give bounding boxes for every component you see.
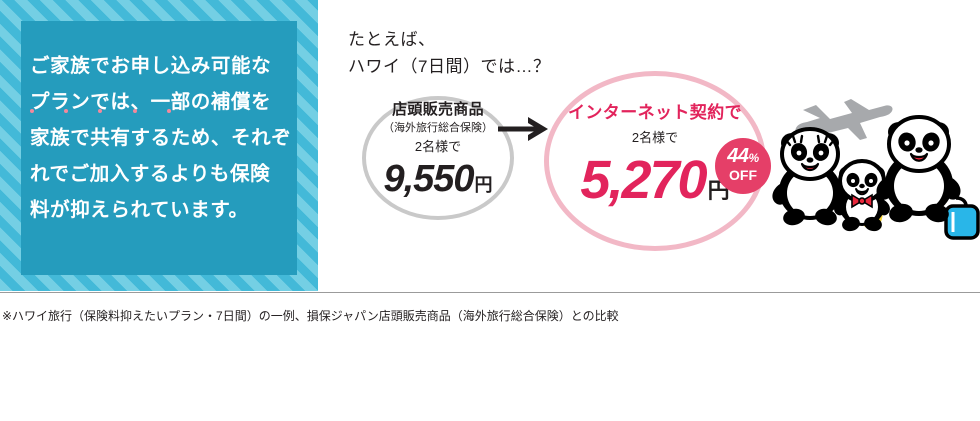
internet-plan-title: インターネット契約で bbox=[544, 101, 766, 125]
lead-question: たとえば、 ハワイ（7日間）では…？ bbox=[348, 26, 550, 80]
callout-line-3-tail: ため、それぞ bbox=[171, 127, 292, 149]
discount-badge: 44% OFF bbox=[715, 138, 771, 194]
emphasized-phrase-text: 家族で共有する bbox=[30, 127, 171, 149]
lead-line-1: たとえば、 bbox=[348, 26, 550, 53]
father-panda bbox=[876, 117, 978, 238]
arrow-right-icon bbox=[498, 116, 548, 142]
store-plan-currency: 円 bbox=[475, 175, 493, 195]
internet-plan-price-number: 5,270 bbox=[580, 150, 705, 210]
callout-line-3: 家族で共有するため、それぞ bbox=[30, 120, 292, 156]
panda-family-travel-illustration bbox=[768, 88, 980, 250]
discount-off-label: OFF bbox=[715, 168, 771, 183]
lead-line-2: ハワイ（7日間）では…？ bbox=[348, 53, 550, 80]
store-plan-price-number: 9,550 bbox=[383, 158, 473, 200]
store-plan-subtitle: （海外旅行総合保険） bbox=[362, 120, 514, 137]
store-plan-title: 店頭販売商品 bbox=[362, 100, 514, 120]
store-plan-people: 2名様で bbox=[362, 137, 514, 157]
callout-text-block: ご家族でお申し込み可能な プランでは、一部の補償を 家族で共有するため、それぞ … bbox=[30, 48, 292, 228]
discount-percent-symbol: % bbox=[749, 151, 759, 165]
promo-banner: ご家族でお申し込み可能な プランでは、一部の補償を 家族で共有するため、それぞ … bbox=[0, 0, 980, 421]
emphasized-phrase: 家族で共有する bbox=[30, 120, 171, 156]
horizontal-divider bbox=[0, 292, 980, 293]
store-plan-content: 店頭販売商品 （海外旅行総合保険） 2名様で 9,550円 bbox=[362, 100, 514, 201]
striped-callout-panel: ご家族でお申し込み可能な プランでは、一部の補償を 家族で共有するため、それぞ … bbox=[0, 0, 318, 291]
callout-line-1: ご家族でお申し込み可能な bbox=[30, 48, 292, 84]
callout-line-5: 料が抑えられています。 bbox=[30, 192, 292, 228]
callout-line-4: れでご加入するよりも保険 bbox=[30, 156, 292, 192]
discount-percent-number: 44 bbox=[727, 145, 748, 167]
suitcase-icon bbox=[946, 198, 978, 238]
discount-percent: 44% bbox=[715, 147, 771, 168]
callout-line-2: プランでは、一部の補償を bbox=[30, 84, 292, 120]
footnote-text: ※ハワイ旅行（保険料抑えたいプラン・7日間）の一例、損保ジャパン店頭販売商品（海… bbox=[2, 307, 619, 324]
store-plan-price: 9,550円 bbox=[362, 158, 514, 201]
